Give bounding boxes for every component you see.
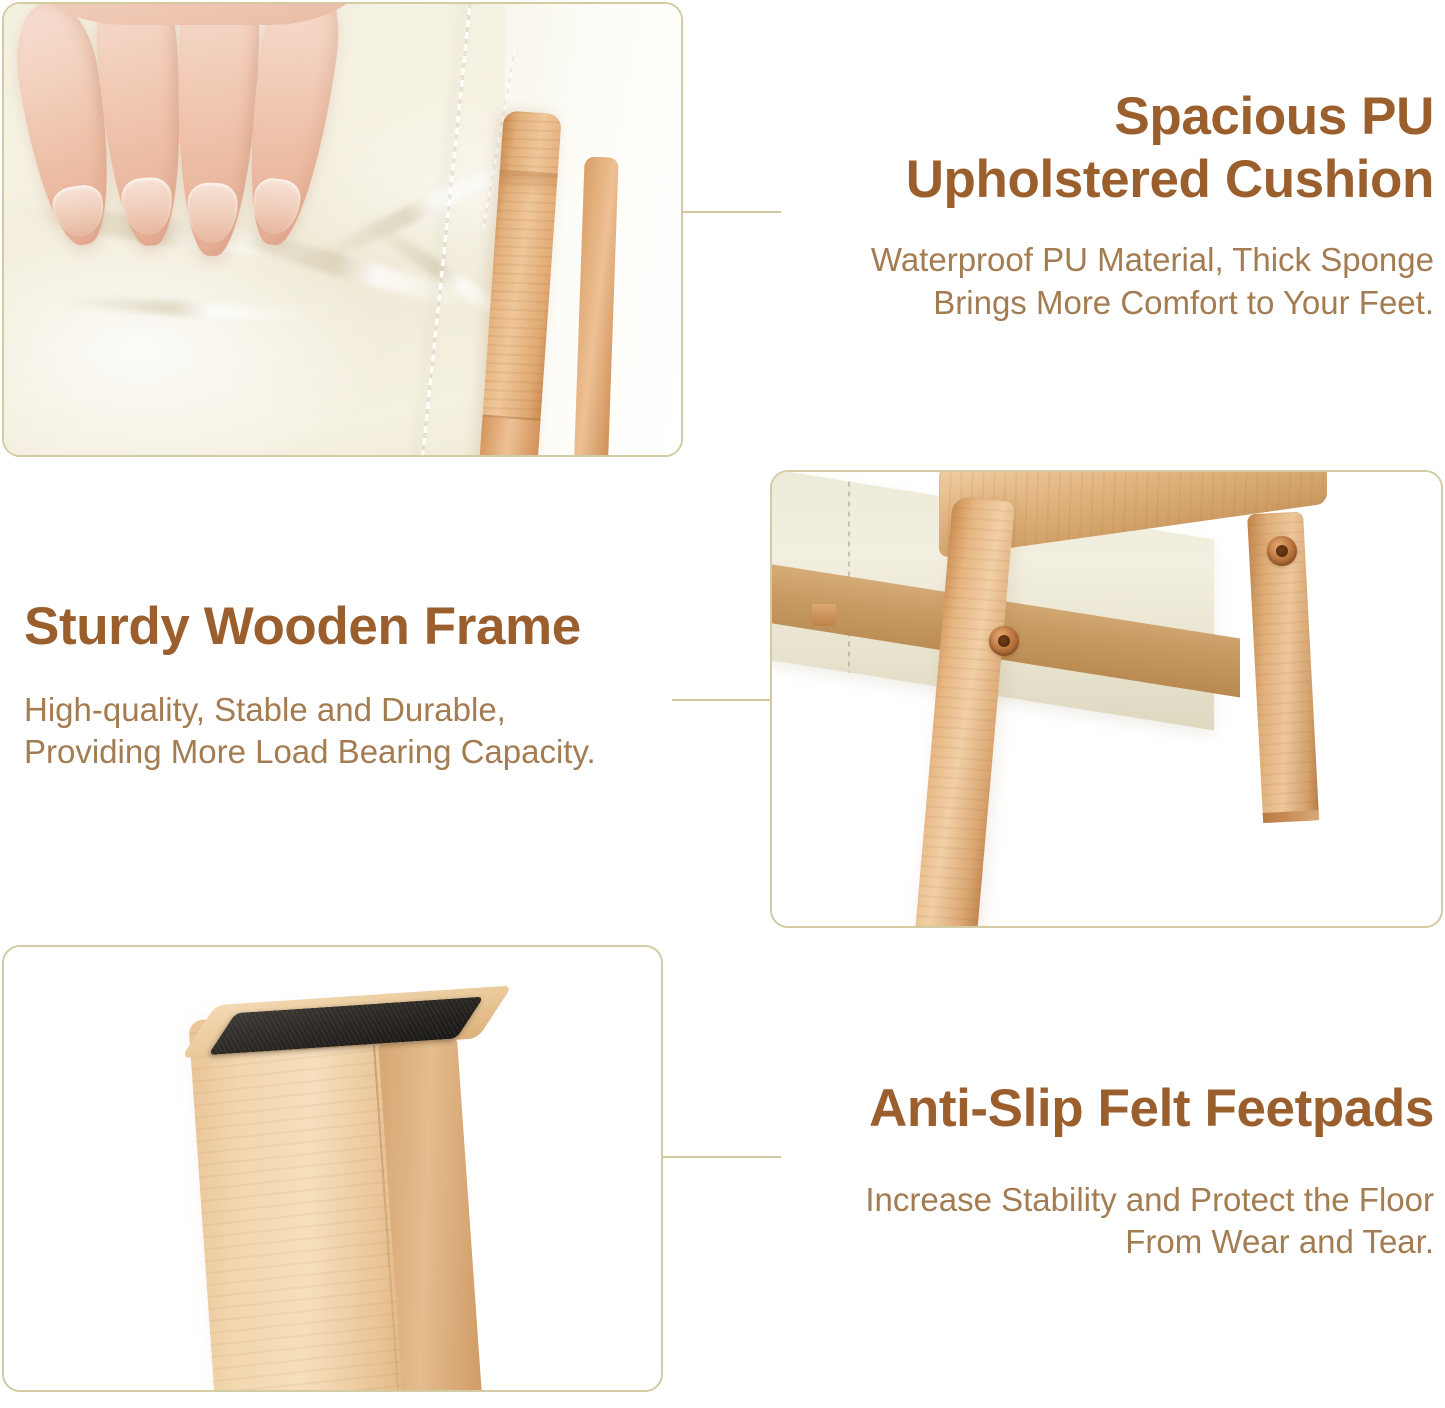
feature-text-frame: Sturdy Wooden Frame High-quality, Stable… xyxy=(24,596,696,774)
frame-photo xyxy=(772,472,1441,926)
photo-panel-cushion xyxy=(2,2,683,457)
subtext-feetpads: Increase Stability and Protect the Floor… xyxy=(762,1179,1434,1265)
subtext-cushion: Waterproof PU Material, Thick Sponge Bri… xyxy=(762,239,1434,325)
feature-text-cushion: Spacious PU Upholstered Cushion Waterpro… xyxy=(762,86,1434,325)
subtext-cushion-line2: Brings More Comfort to Your Feet. xyxy=(933,284,1434,321)
subtext-frame: High-quality, Stable and Durable, Provid… xyxy=(24,689,696,775)
subtext-feetpads-line2: From Wear and Tear. xyxy=(1125,1223,1434,1260)
feetpads-photo xyxy=(4,947,661,1390)
heading-frame-line1: Sturdy Wooden Frame xyxy=(24,597,581,656)
heading-cushion-line1: Spacious PU xyxy=(1114,87,1434,146)
photo-panel-feetpads xyxy=(2,945,663,1392)
heading-cushion: Spacious PU Upholstered Cushion xyxy=(762,86,1434,211)
subtext-cushion-line1: Waterproof PU Material, Thick Sponge xyxy=(871,241,1434,278)
heading-feetpads-line1: Anti-Slip Felt Feetpads xyxy=(869,1079,1434,1138)
screw-icon xyxy=(1267,536,1297,566)
feature-text-feetpads: Anti-Slip Felt Feetpads Increase Stabili… xyxy=(762,1078,1434,1264)
connector-line-frame xyxy=(672,699,772,701)
photo-panel-frame xyxy=(770,470,1443,928)
subtext-frame-line2: Providing More Load Bearing Capacity. xyxy=(24,733,596,770)
cushion-photo xyxy=(4,4,681,455)
product-feature-infographic: Spacious PU Upholstered Cushion Waterpro… xyxy=(0,0,1445,1408)
subtext-feetpads-line1: Increase Stability and Protect the Floor xyxy=(865,1181,1434,1218)
heading-cushion-line2: Upholstered Cushion xyxy=(906,150,1434,209)
subtext-frame-line1: High-quality, Stable and Durable, xyxy=(24,691,506,728)
heading-feetpads: Anti-Slip Felt Feetpads xyxy=(762,1078,1434,1141)
heading-frame: Sturdy Wooden Frame xyxy=(24,596,696,659)
